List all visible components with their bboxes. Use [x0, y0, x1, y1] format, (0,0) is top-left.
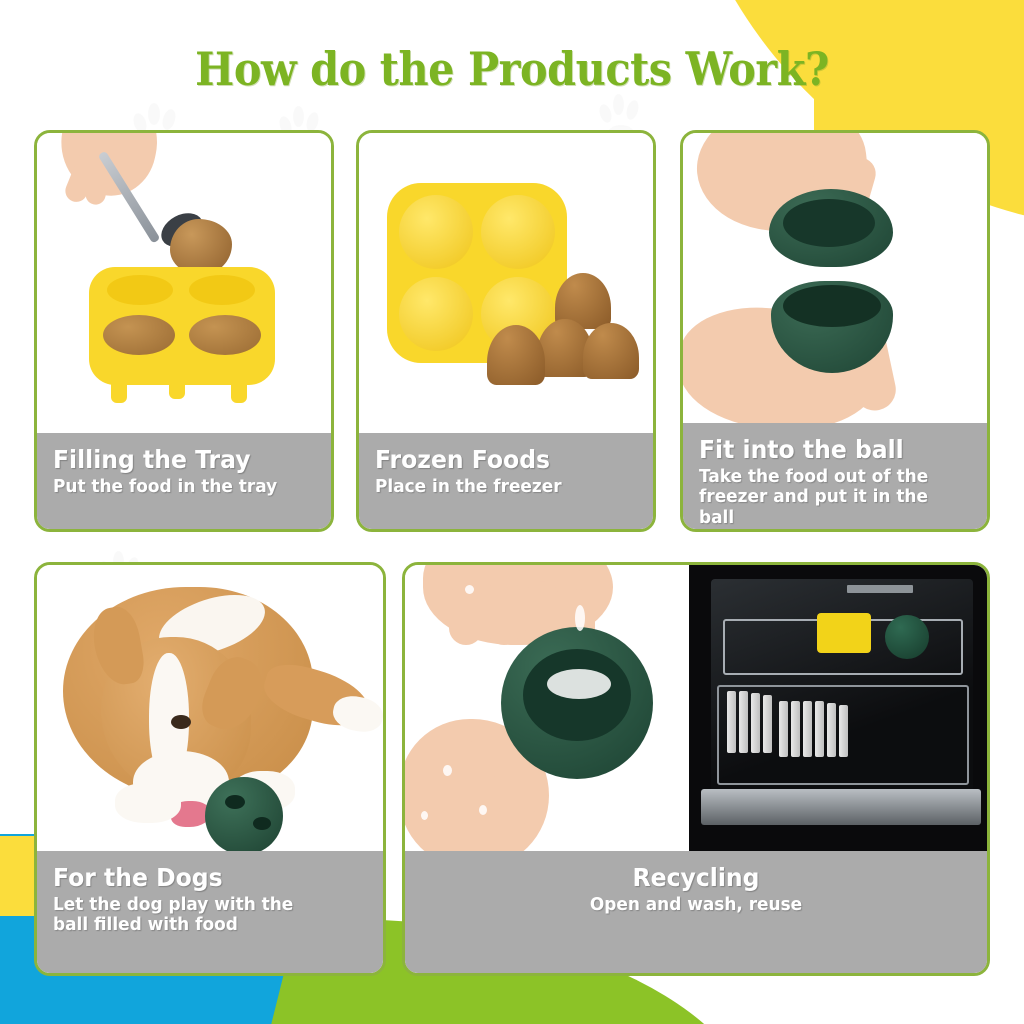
step-2-title: Frozen Foods — [375, 447, 621, 473]
plate — [827, 703, 836, 757]
dishwasher-yellow-tray-item — [817, 613, 871, 653]
step-4-caption: For the Dogs Let the dog play with the b… — [37, 851, 383, 973]
plate — [779, 701, 788, 757]
tray-leg — [169, 381, 185, 399]
green-ball-toy — [205, 777, 283, 855]
step-5-title: Recycling — [438, 865, 955, 891]
step-3-subtitle-line-1: Take the food out of the — [699, 467, 955, 487]
infographic-poster: How do the Products Work? — [0, 0, 1024, 1024]
ball-hole — [253, 817, 271, 830]
tray-cavity — [481, 195, 555, 269]
plate — [815, 701, 824, 757]
step-4-subtitle-line-1: Let the dog play with the — [53, 895, 348, 915]
dog-eye — [171, 715, 191, 729]
step-card-4[interactable]: For the Dogs Let the dog play with the b… — [34, 562, 386, 976]
dishwasher-brand-label — [847, 585, 913, 593]
step-5-subtitle: Open and wash, reuse — [438, 895, 955, 915]
step-1-caption: Filling the Tray Put the food in the tra… — [37, 433, 331, 529]
water-droplet — [443, 765, 452, 776]
tray-cavity — [399, 195, 473, 269]
plate — [751, 693, 760, 753]
plate — [791, 701, 800, 757]
water-droplet — [465, 585, 474, 594]
step-3-title: Fit into the ball — [699, 437, 955, 463]
step-badge-3: 3 — [923, 529, 975, 532]
step-1-subtitle: Put the food in the tray — [53, 477, 299, 497]
finger-illustration — [487, 579, 521, 645]
step-card-3[interactable]: Fit into the ball Take the food out of t… — [680, 130, 990, 532]
step-card-5[interactable]: Recycling Open and wash, reuse 5 — [402, 562, 990, 976]
tray-leg — [231, 381, 247, 403]
ball-lid-inner-rim — [783, 199, 875, 247]
tray-leg — [111, 381, 127, 403]
tray-cavity-with-food — [103, 315, 175, 355]
frozen-food-dome — [583, 323, 639, 379]
plate — [803, 701, 812, 757]
step-2-subtitle: Place in the freezer — [375, 477, 621, 497]
step-3-photo — [683, 133, 987, 429]
step-card-2[interactable]: Frozen Foods Place in the freezer 2 — [356, 130, 656, 532]
tray-cavity — [189, 275, 255, 305]
step-1-title: Filling the Tray — [53, 447, 299, 473]
step-3-caption: Fit into the ball Take the food out of t… — [683, 423, 987, 529]
water-splash — [547, 669, 611, 699]
step-2-caption: Frozen Foods Place in the freezer — [359, 433, 653, 529]
page-title: How do the Products Work? — [51, 42, 973, 96]
water-droplet — [421, 811, 428, 820]
step-5-photo — [405, 565, 987, 857]
tray-cavity — [399, 277, 473, 351]
step-2-photo — [359, 133, 653, 439]
ball-base-inner-rim — [783, 285, 881, 327]
step-card-1[interactable]: Filling the Tray Put the food in the tra… — [34, 130, 334, 532]
step-1-photo — [37, 133, 331, 439]
plate — [739, 691, 748, 753]
water-droplet — [615, 611, 623, 619]
step-3-subtitle-line-2: freezer and put it in the ball — [699, 487, 955, 527]
dishwasher-green-ball-item — [885, 615, 929, 659]
water-droplet — [479, 805, 487, 815]
plate — [839, 705, 848, 757]
dishwasher-door — [701, 789, 981, 825]
tray-cavity — [107, 275, 173, 305]
step-5-caption: Recycling Open and wash, reuse — [405, 851, 987, 973]
tray-cavity-with-food — [189, 315, 261, 355]
step-4-photo — [37, 565, 383, 857]
step-4-subtitle-line-2: ball filled with food — [53, 915, 348, 935]
dog-paw — [115, 783, 181, 823]
water-splash — [575, 605, 585, 631]
plate — [763, 695, 772, 753]
ball-hole — [225, 795, 245, 809]
plate — [727, 691, 736, 753]
step-4-title: For the Dogs — [53, 865, 348, 891]
